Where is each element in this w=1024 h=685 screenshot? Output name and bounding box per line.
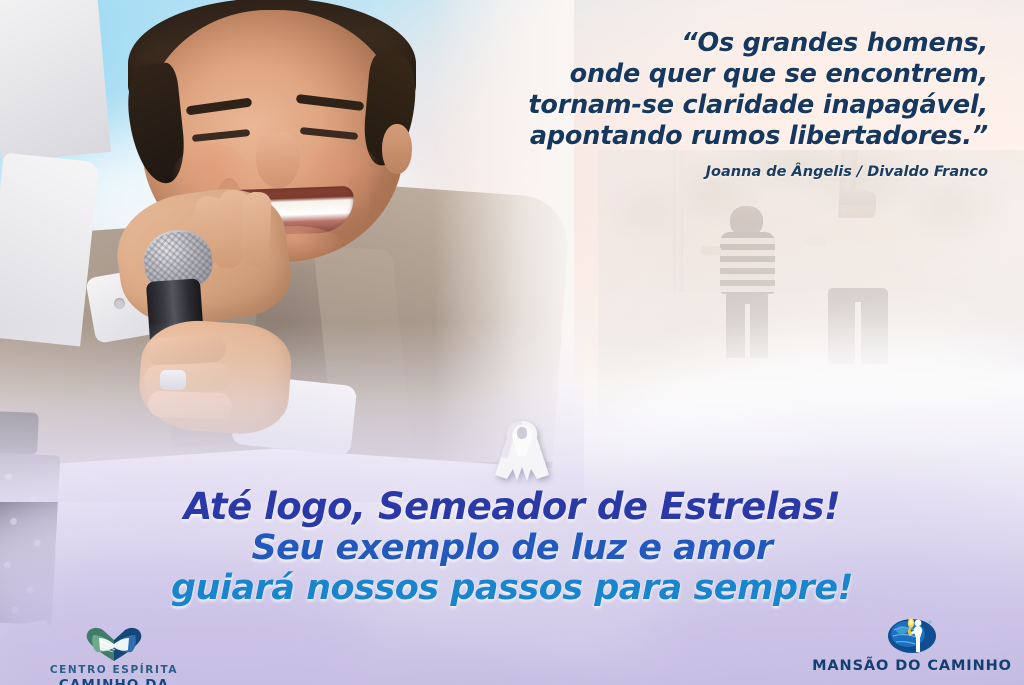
scene-fade-overlay <box>598 150 1024 425</box>
quote-block: “Os grandes homens, onde quer que se enc… <box>428 28 988 180</box>
cuff-button <box>114 298 125 309</box>
background-photo-two-people-walking <box>598 150 1024 425</box>
logo-left-line-1: CENTRO ESPÍRITA <box>14 664 214 676</box>
quote-line-2: onde quer que se encontrem, <box>428 59 988 90</box>
heart-hands-icon <box>14 626 214 662</box>
quote-attribution: Joanna de Ângelis / Divaldo Franco <box>428 164 988 180</box>
headline-line-2: Seu exemplo de luz e amor <box>0 528 1024 568</box>
finger-3 <box>240 191 272 266</box>
logo-centro-espirita-caminho-da-redencao: CENTRO ESPÍRITA CAMINHO DA REDENÇÃO <box>14 626 214 685</box>
logo-mansao-do-caminho: MANSÃO DO CAMINHO <box>812 620 1012 674</box>
headline-line-3: guiará nossos passos para sempre! <box>0 568 1024 609</box>
logo-right-line-1: MANSÃO DO CAMINHO <box>812 658 1012 674</box>
nose <box>256 132 300 188</box>
shirt-left <box>0 0 111 161</box>
ear-right <box>382 124 412 174</box>
headline-line-1: Até logo, Semeador de Estrelas! <box>0 486 1024 528</box>
white-ribbon-icon <box>491 413 553 485</box>
globe-torch-figure-icon <box>812 620 1012 656</box>
quote-line-4: apontando rumos libertadores.” <box>428 121 988 152</box>
memorial-poster: “Os grandes homens, onde quer que se enc… <box>0 0 1024 685</box>
headline-block: Até logo, Semeador de Estrelas! Seu exem… <box>0 486 1024 609</box>
quote-line-3: tornam-se claridade inapagável, <box>428 90 988 121</box>
quote-line-1: “Os grandes homens, <box>428 28 988 59</box>
logo-left-line-2: CAMINHO DA REDENÇÃO <box>14 677 214 685</box>
